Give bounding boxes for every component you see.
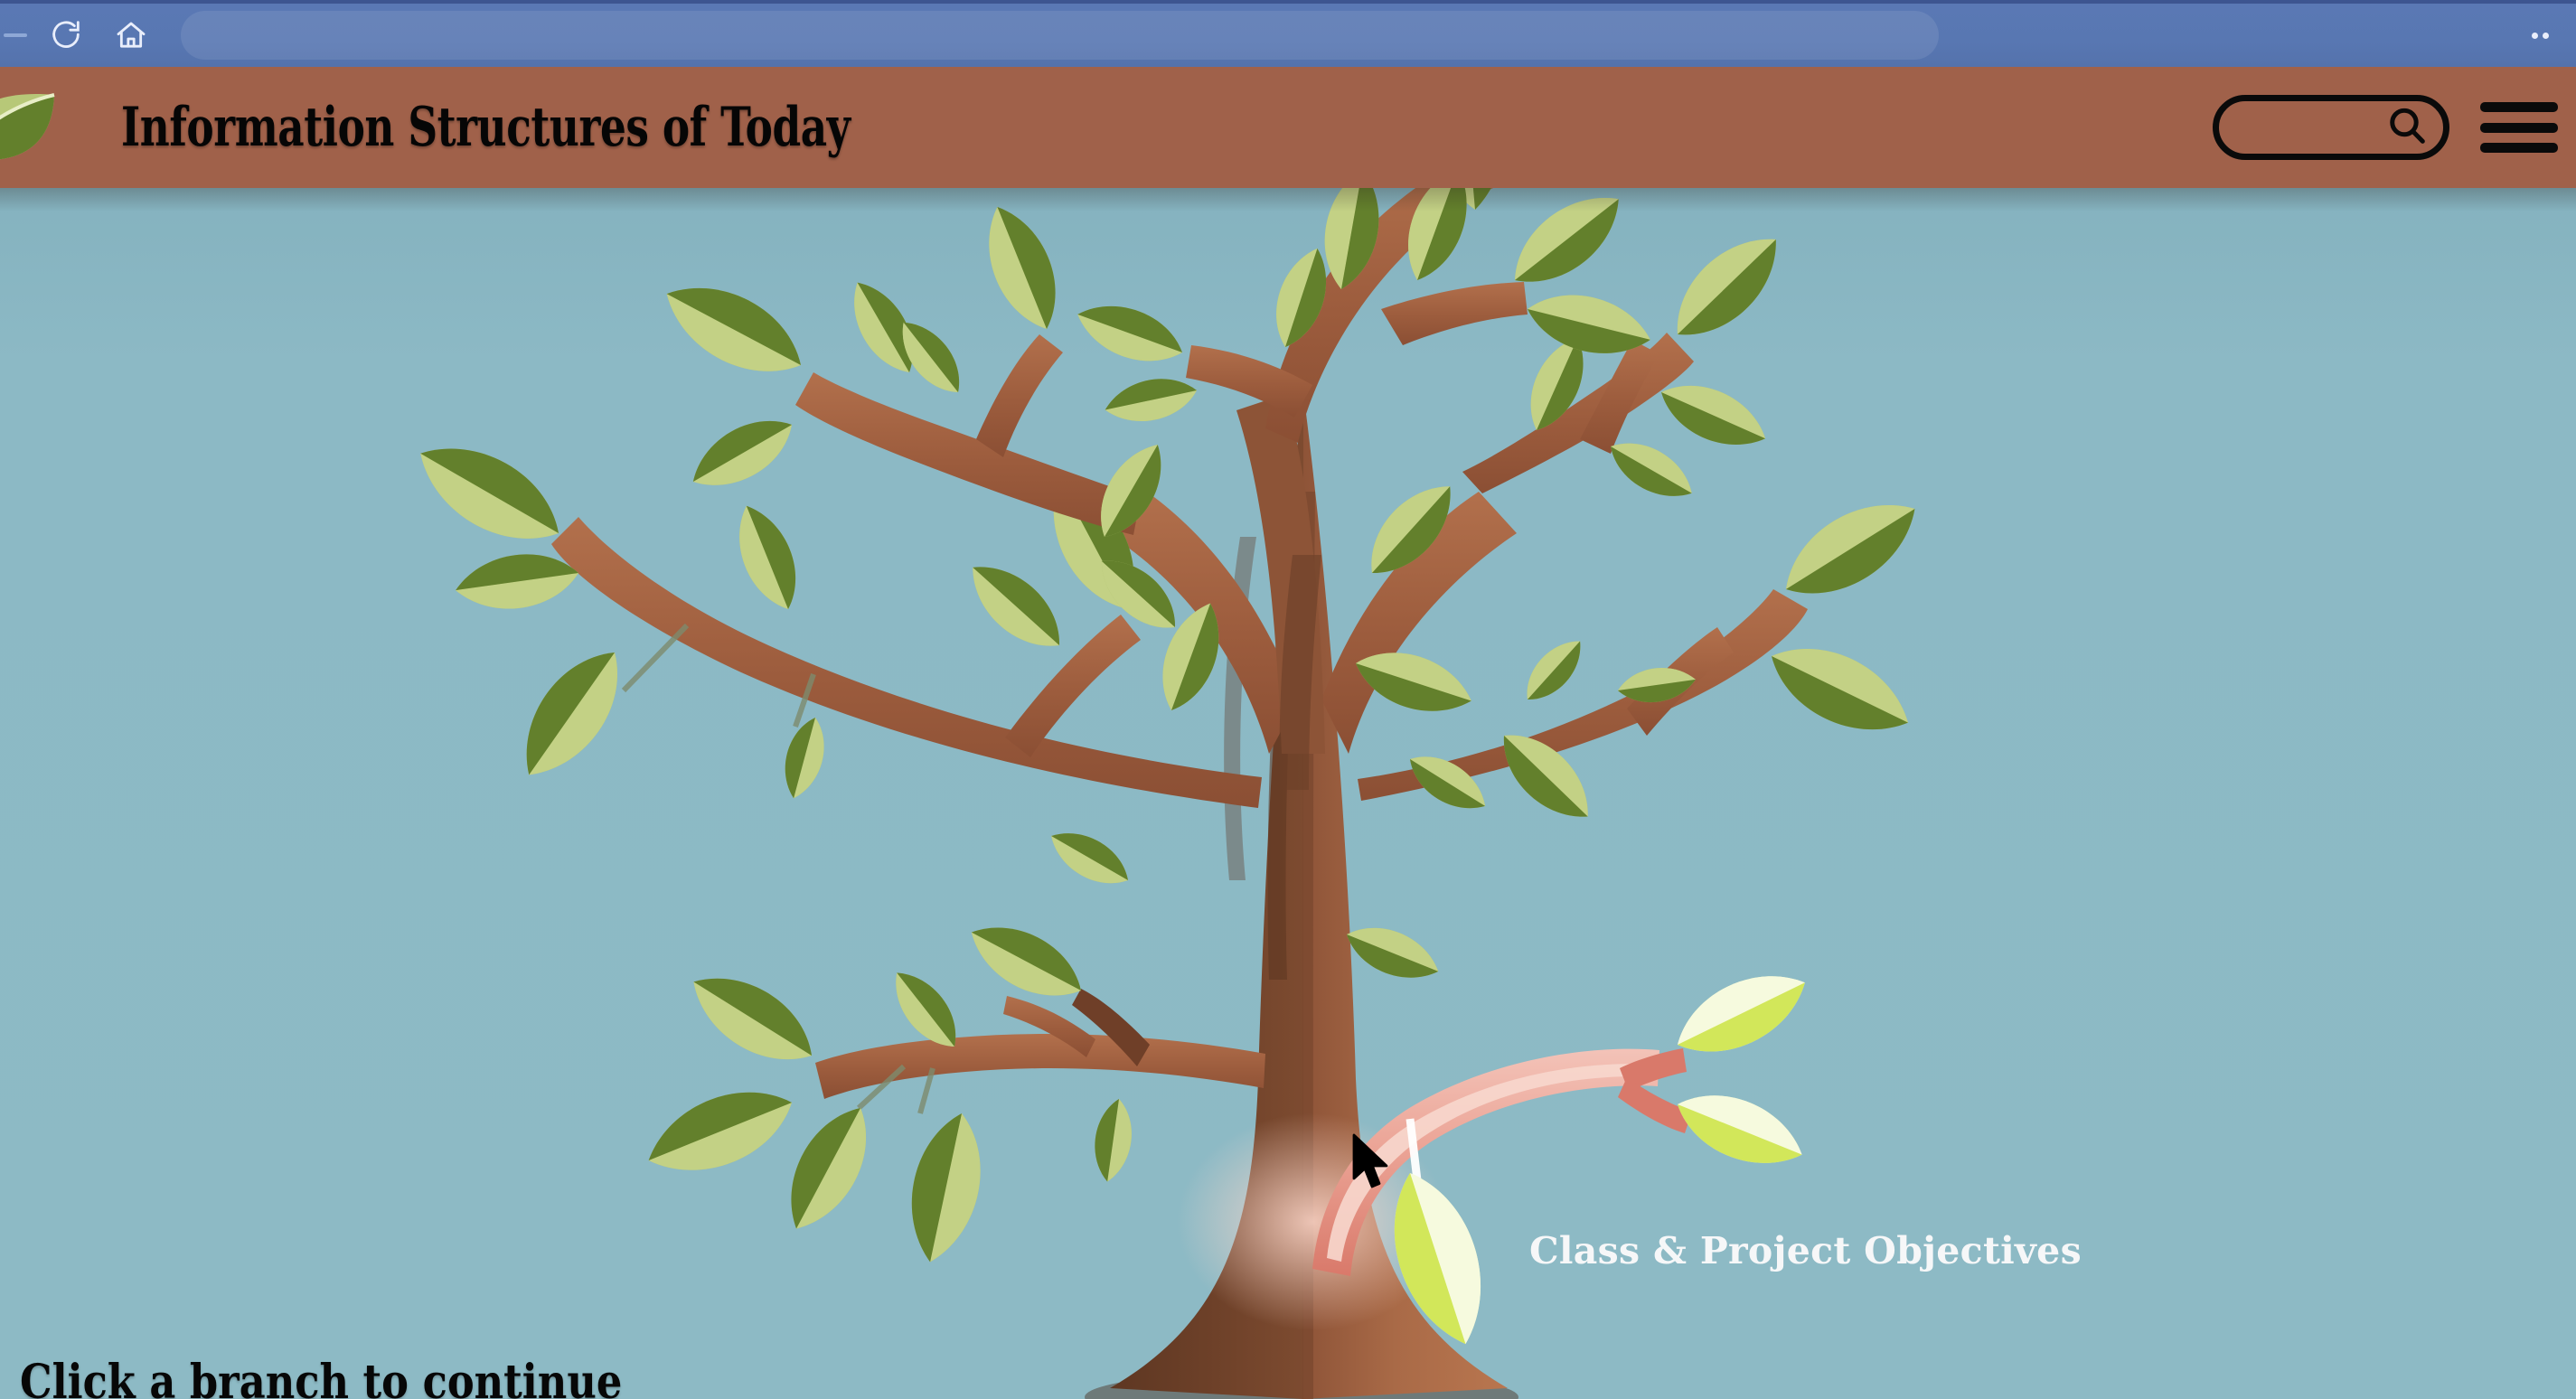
menu-bar bbox=[2480, 143, 2558, 153]
branch-upper-right[interactable] bbox=[1462, 219, 1796, 511]
interactive-tree-graphic[interactable] bbox=[0, 67, 2576, 1399]
site-header: Information Structures of Today bbox=[0, 67, 2576, 188]
header-actions bbox=[2213, 95, 2558, 160]
url-input[interactable] bbox=[181, 11, 1939, 60]
hamburger-menu-icon[interactable] bbox=[2480, 97, 2558, 158]
overflow-dot bbox=[2543, 33, 2549, 39]
branch-label-class-project-objectives[interactable]: Class & Project Objectives bbox=[1529, 1229, 2082, 1272]
page-title: Information Structures of Today bbox=[121, 96, 851, 159]
browser-toolbar bbox=[0, 0, 2576, 67]
overflow-dot bbox=[2532, 33, 2538, 39]
tree-canvas[interactable]: Class & Project Objectives Click a branc… bbox=[0, 67, 2576, 1399]
reload-button[interactable] bbox=[40, 9, 92, 61]
branch-upper-left[interactable] bbox=[652, 196, 1141, 535]
search-input[interactable] bbox=[2213, 95, 2449, 160]
menu-bar bbox=[2480, 123, 2558, 133]
search-icon bbox=[2383, 102, 2430, 154]
home-icon bbox=[113, 17, 149, 53]
branch-left-lower[interactable] bbox=[636, 909, 1265, 1269]
menu-bar bbox=[2480, 102, 2558, 112]
back-button[interactable] bbox=[4, 33, 27, 37]
reload-icon bbox=[48, 17, 84, 53]
instruction-hint: Click a branch to continue bbox=[20, 1355, 622, 1399]
home-button[interactable] bbox=[105, 9, 157, 61]
trunk-fork[interactable] bbox=[1110, 394, 1517, 790]
more-options-icon[interactable] bbox=[2516, 12, 2563, 59]
leaf-logo-icon[interactable] bbox=[0, 86, 60, 169]
